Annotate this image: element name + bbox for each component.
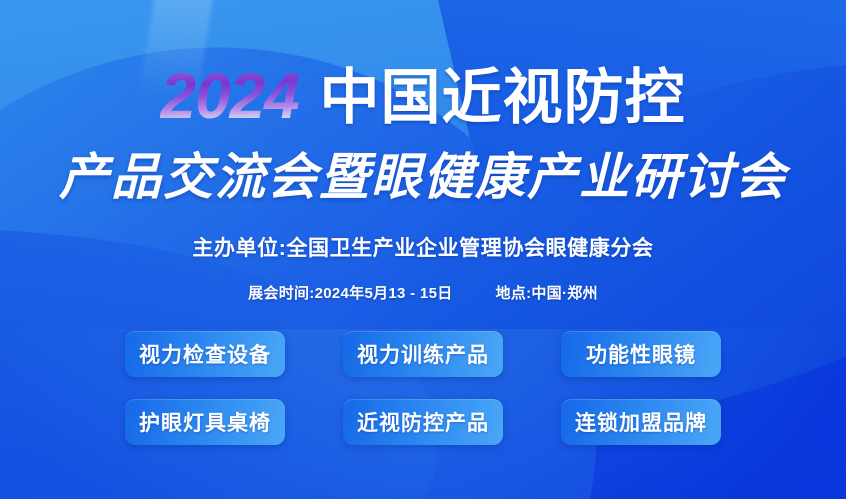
event-location: 地点:中国·郑州	[495, 285, 597, 302]
event-poster-banner: 2024 中国近视防控 产品交流会暨眼健康产业研讨会 主办单位:全国卫生产业企业…	[0, 0, 846, 499]
event-date: 展会时间:2024年5月13 - 15日	[248, 285, 452, 302]
category-tag[interactable]: 视力检查设备	[125, 331, 285, 377]
category-tag[interactable]: 功能性眼镜	[561, 331, 721, 377]
category-tag-groups: 视力检查设备 视力训练产品 功能性眼镜 护眼灯具桌椅 近视防控产品 连锁加盟品牌	[0, 331, 846, 445]
category-tag[interactable]: 视力训练产品	[343, 331, 503, 377]
headline-year: 2024	[160, 60, 302, 132]
category-tag[interactable]: 护眼灯具桌椅	[125, 399, 285, 445]
category-tag[interactable]: 近视防控产品	[343, 399, 503, 445]
headline-primary: 2024 中国近视防控	[0, 64, 846, 128]
category-tag-row: 护眼灯具桌椅 近视防控产品 连锁加盟品牌	[125, 399, 721, 445]
headline-secondary: 产品交流会暨眼健康产业研讨会	[0, 152, 846, 202]
organizer-line: 主办单位:全国卫生产业企业管理协会眼健康分会	[0, 232, 846, 262]
event-meta-line: 展会时间:2024年5月13 - 15日 地点:中国·郑州	[0, 282, 846, 303]
category-tag-row: 视力检查设备 视力训练产品 功能性眼镜	[125, 331, 721, 377]
category-tag[interactable]: 连锁加盟品牌	[561, 399, 721, 445]
headline-primary-text: 中国近视防控	[320, 64, 686, 131]
poster-content: 2024 中国近视防控 产品交流会暨眼健康产业研讨会 主办单位:全国卫生产业企业…	[0, 0, 846, 499]
